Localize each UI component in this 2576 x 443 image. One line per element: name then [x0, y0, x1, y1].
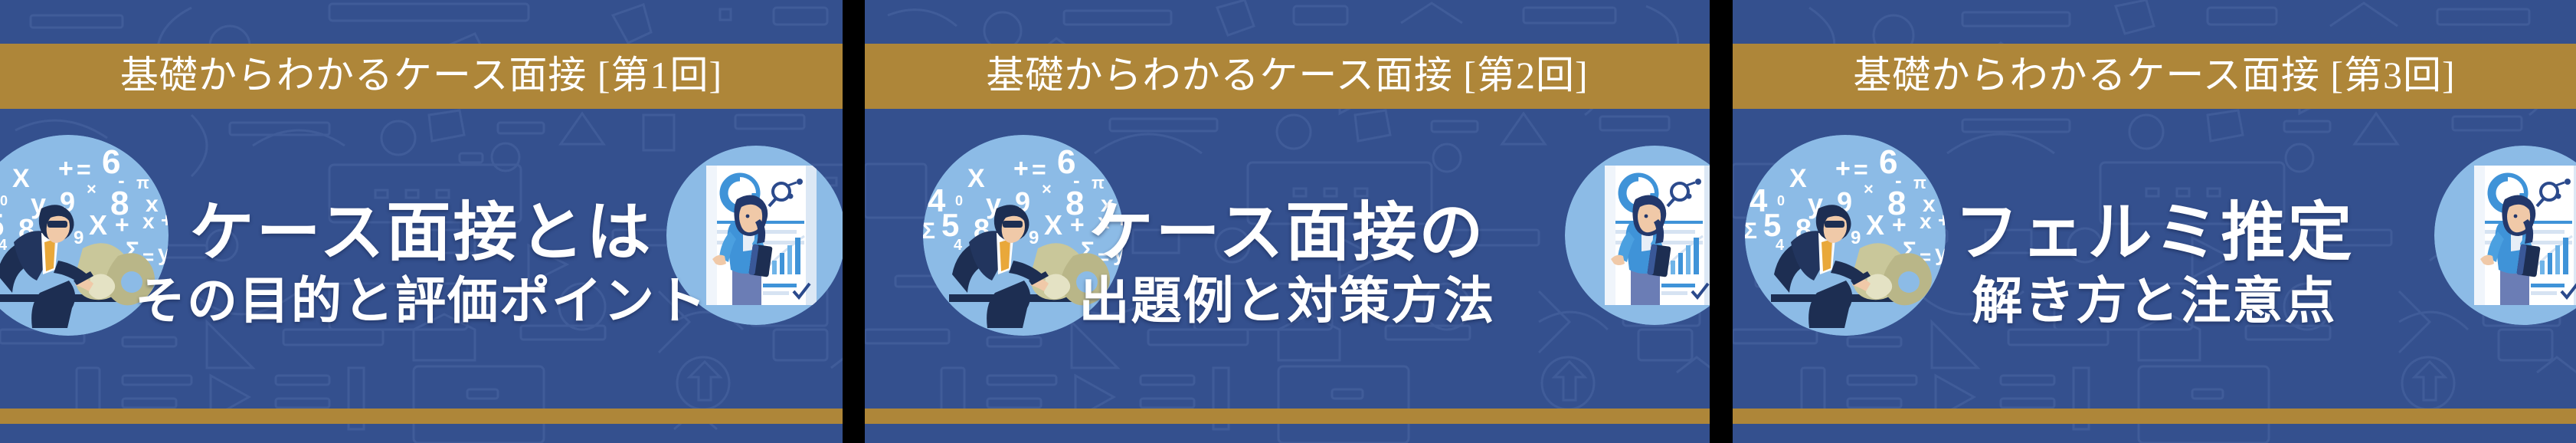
bottom-gold-stripe-1: [0, 409, 843, 424]
math-businessman-illustration-3: + = 6 X × - π 4 0 y 9 8 x + Σ 5 8: [1745, 135, 1946, 336]
series-label-3: 基礎からわかるケース面接 [第3回]: [1853, 56, 2455, 94]
banner-panel-1[interactable]: 基礎からわかるケース面接 [第1回] + = 6 X × - π 4 0 y 9…: [0, 0, 843, 443]
banner-panel-2[interactable]: 基礎からわかるケース面接 [第2回] + = 6 X × - π 4 0 y 9…: [865, 0, 1710, 443]
svg-text:π: π: [1092, 173, 1105, 192]
svg-text:0: 0: [0, 193, 8, 208]
svg-text:Σ: Σ: [1745, 218, 1757, 244]
panel-separator-2: [1710, 0, 1733, 443]
svg-text:9: 9: [1029, 228, 1039, 248]
svg-text:+: +: [1013, 154, 1029, 183]
banner-panel-3[interactable]: 基礎からわかるケース面接 [第3回] + = 6 X × - π 4 0 y 9…: [1733, 0, 2576, 443]
series-band-1: 基礎からわかるケース面接 [第1回]: [0, 44, 843, 109]
svg-text:9: 9: [1851, 228, 1861, 248]
math-businessman-illustration-2: + = 6 X × - π 4 0 y 9 8 x + Σ 5 8: [923, 135, 1124, 336]
series-band-3: 基礎からわかるケース面接 [第3回]: [1733, 44, 2576, 109]
svg-text:Σ: Σ: [923, 218, 935, 244]
svg-text:π: π: [136, 173, 149, 192]
svg-text:X: X: [1044, 209, 1062, 241]
svg-text:4: 4: [1776, 237, 1785, 254]
banner-strip: 基礎からわかるケース面接 [第1回] + = 6 X × - π 4 0 y 9…: [0, 0, 2576, 443]
svg-text:0: 0: [1777, 193, 1785, 208]
svg-text:0: 0: [955, 193, 963, 208]
bottom-gold-stripe-3: [1733, 409, 2576, 424]
series-label-2: 基礎からわかるケース面接 [第2回]: [986, 56, 1588, 94]
svg-text:9: 9: [74, 228, 83, 248]
svg-text:X: X: [89, 209, 107, 241]
svg-text:+: +: [1070, 211, 1085, 238]
bottom-gold-stripe-2: [865, 409, 1710, 424]
svg-text:×: ×: [1864, 179, 1874, 199]
svg-text:×: ×: [1042, 179, 1052, 199]
svg-text:π: π: [1913, 173, 1926, 192]
series-label-1: 基礎からわかるケース面接 [第1回]: [120, 56, 722, 94]
svg-text:X: X: [12, 164, 30, 193]
series-band-2: 基礎からわかるケース面接 [第2回]: [865, 44, 1710, 109]
svg-text:+: +: [58, 154, 74, 183]
svg-text:X: X: [967, 164, 985, 193]
svg-text:4: 4: [954, 237, 963, 254]
svg-text:+: +: [1835, 154, 1851, 183]
woman-presenting-dashboard-illustration-1: [666, 146, 843, 325]
svg-text:X: X: [1866, 209, 1884, 241]
svg-text:4: 4: [0, 237, 8, 254]
svg-text:×: ×: [87, 179, 97, 199]
svg-text:x: x: [1920, 209, 1932, 233]
svg-text:+: +: [1892, 211, 1907, 238]
svg-text:x: x: [142, 209, 155, 233]
svg-text:+: +: [115, 211, 129, 238]
svg-text:x: x: [1098, 209, 1110, 233]
panel-separator-1: [843, 0, 865, 443]
svg-text:X: X: [1789, 164, 1807, 193]
